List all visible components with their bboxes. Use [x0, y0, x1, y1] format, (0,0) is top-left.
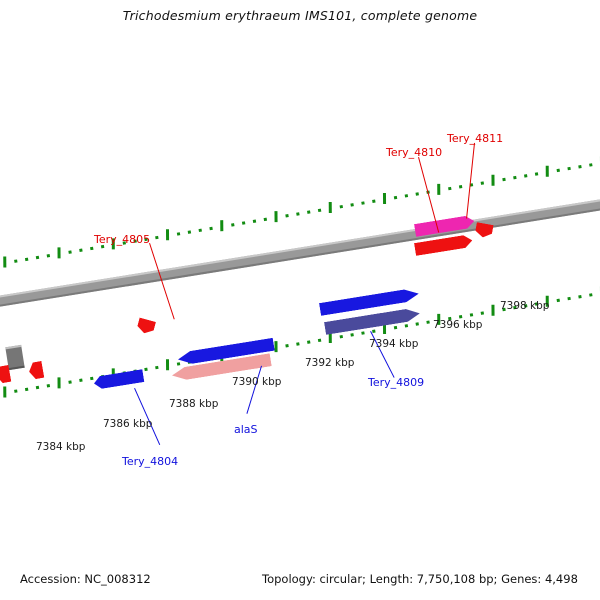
rail-minor-tick [188, 230, 191, 233]
rail-minor-tick [318, 339, 321, 342]
rail-minor-tick [318, 209, 321, 212]
rail-minor-tick [470, 313, 473, 316]
accession-text: Accession: NC_008312 [20, 572, 151, 586]
rail-major-tick [546, 166, 549, 177]
leader-tery-4804 [134, 388, 160, 445]
rail-major-tick [274, 211, 277, 222]
rail-minor-tick [567, 167, 570, 170]
gene-highlight [320, 284, 417, 302]
rail-minor-tick [589, 163, 592, 166]
rail-minor-tick [340, 205, 343, 208]
tery-4805-feature[interactable] [136, 318, 156, 336]
gene-highlight [178, 335, 272, 353]
rail-minor-tick [502, 178, 505, 181]
rail-minor-tick [372, 330, 375, 333]
rail-minor-tick [47, 254, 50, 257]
coordinate-label-kbp-7392: 7392 kbp [305, 357, 354, 369]
rail-minor-tick [155, 366, 158, 369]
rail-minor-tick [296, 342, 299, 345]
gene-label-tery-4804[interactable]: Tery_4804 [122, 455, 178, 468]
rail-minor-tick [14, 259, 17, 262]
rail-minor-tick [285, 214, 288, 217]
gene-label-tery-4805[interactable]: Tery_4805 [94, 233, 150, 246]
status-bar: Accession: NC_008312 Topology: circular;… [0, 572, 600, 592]
rail-major-tick [491, 305, 494, 316]
rail-minor-tick [307, 340, 310, 343]
coordinate-label-kbp-7388: 7388 kbp [169, 398, 218, 410]
gene-body [93, 369, 144, 390]
rail-minor-tick [405, 194, 408, 197]
rail-minor-tick [25, 258, 28, 261]
coordinate-label-kbp-7390: 7390 kbp [232, 376, 281, 388]
rail-minor-tick [350, 333, 353, 336]
rail-minor-tick [372, 200, 375, 203]
rail-minor-tick [36, 386, 39, 389]
rail-minor-tick [513, 176, 516, 179]
rail-minor-tick [578, 165, 581, 168]
rail-minor-tick [155, 236, 158, 239]
rail-minor-tick [144, 368, 147, 371]
rail-minor-tick [361, 201, 364, 204]
rail-minor-tick [415, 192, 418, 195]
gene-highlight [415, 212, 473, 224]
rail-minor-tick [209, 227, 212, 230]
rail-minor-tick [296, 212, 299, 215]
rail-minor-tick [415, 322, 418, 325]
rail-minor-tick [199, 229, 202, 232]
rail-minor-tick [405, 324, 408, 327]
gene-label-tery-4811[interactable]: Tery_4811 [447, 132, 503, 145]
rail-minor-tick [524, 174, 527, 177]
gene-highlight [94, 366, 142, 377]
coordinate-label-kbp-7384: 7384 kbp [36, 441, 85, 453]
rail-major-tick [220, 220, 223, 231]
rail-minor-tick [350, 203, 353, 206]
rail-minor-tick [307, 210, 310, 213]
rail-minor-tick [340, 335, 343, 338]
coordinate-label-kbp-7394: 7394 kbp [369, 338, 418, 350]
gene-label-alas[interactable]: alaS [234, 423, 258, 436]
arrow-icon [474, 222, 493, 239]
rail-major-tick [383, 193, 386, 204]
genome-axis-beam [0, 191, 600, 313]
rail-minor-tick [361, 331, 364, 334]
coordinate-label-kbp-7396: 7396 kbp [433, 319, 482, 331]
rail-minor-tick [578, 295, 581, 298]
rail-minor-tick [253, 219, 256, 222]
rail-minor-tick [394, 326, 397, 329]
rail-minor-tick [47, 384, 50, 387]
rail-minor-tick [557, 169, 560, 172]
rail-minor-tick [567, 297, 570, 300]
rail-major-tick [166, 229, 169, 240]
rail-minor-tick [90, 247, 93, 250]
rail-major-tick [166, 359, 169, 370]
rail-minor-tick [68, 380, 71, 383]
rail-minor-tick [394, 196, 397, 199]
rail-minor-tick [36, 256, 39, 259]
rail-minor-tick [68, 250, 71, 253]
coordinate-label-kbp-7386: 7386 kbp [103, 418, 152, 430]
leader-tery-4811 [466, 143, 475, 219]
genome-track-stage[interactable]: Tery_4805Tery_4810Tery_4811Tery_4809alaS… [0, 0, 600, 600]
arrow-icon [28, 361, 45, 380]
rail-minor-tick [481, 311, 484, 314]
gene-label-tery-4810[interactable]: Tery_4810 [386, 146, 442, 159]
rail-minor-tick [231, 223, 234, 226]
unnamed-red-feature[interactable] [28, 361, 45, 380]
rail-minor-tick [448, 187, 451, 190]
genome-viewer: Trichodesmium erythraeum IMS101, complet… [0, 0, 600, 600]
rail-major-tick [3, 386, 6, 397]
gene-shadow [95, 382, 145, 393]
arrow-icon [136, 318, 156, 336]
gene-shadow [416, 247, 474, 259]
rail-major-tick [437, 184, 440, 195]
rail-minor-tick [557, 299, 560, 302]
rail-minor-tick [459, 185, 462, 188]
tery-4811-marker[interactable] [474, 222, 493, 239]
rail-minor-tick [177, 232, 180, 235]
rail-major-tick [57, 247, 60, 258]
rail-minor-tick [589, 293, 592, 296]
rail-minor-tick [535, 172, 538, 175]
rail-minor-tick [79, 379, 82, 382]
rail-major-tick [491, 175, 494, 186]
rail-major-tick [3, 256, 6, 267]
rail-minor-tick [242, 221, 245, 224]
rail-minor-tick [264, 218, 267, 221]
rail-minor-tick [25, 388, 28, 391]
rail-major-tick [329, 202, 332, 213]
coordinate-label-kbp-7398: 7398 kbp [500, 300, 549, 312]
rail-minor-tick [426, 320, 429, 323]
topology-text: Topology: circular; Length: 7,750,108 bp… [262, 572, 578, 586]
rail-minor-tick [285, 344, 288, 347]
rail-minor-tick [459, 315, 462, 318]
rail-minor-tick [79, 249, 82, 252]
rail-major-tick [57, 377, 60, 388]
tery-4804-gene[interactable] [93, 369, 144, 390]
rail-minor-tick [481, 181, 484, 184]
gene-label-tery-4809[interactable]: Tery_4809 [368, 376, 424, 389]
rail-minor-tick [14, 389, 17, 392]
leader-alas [246, 366, 262, 414]
